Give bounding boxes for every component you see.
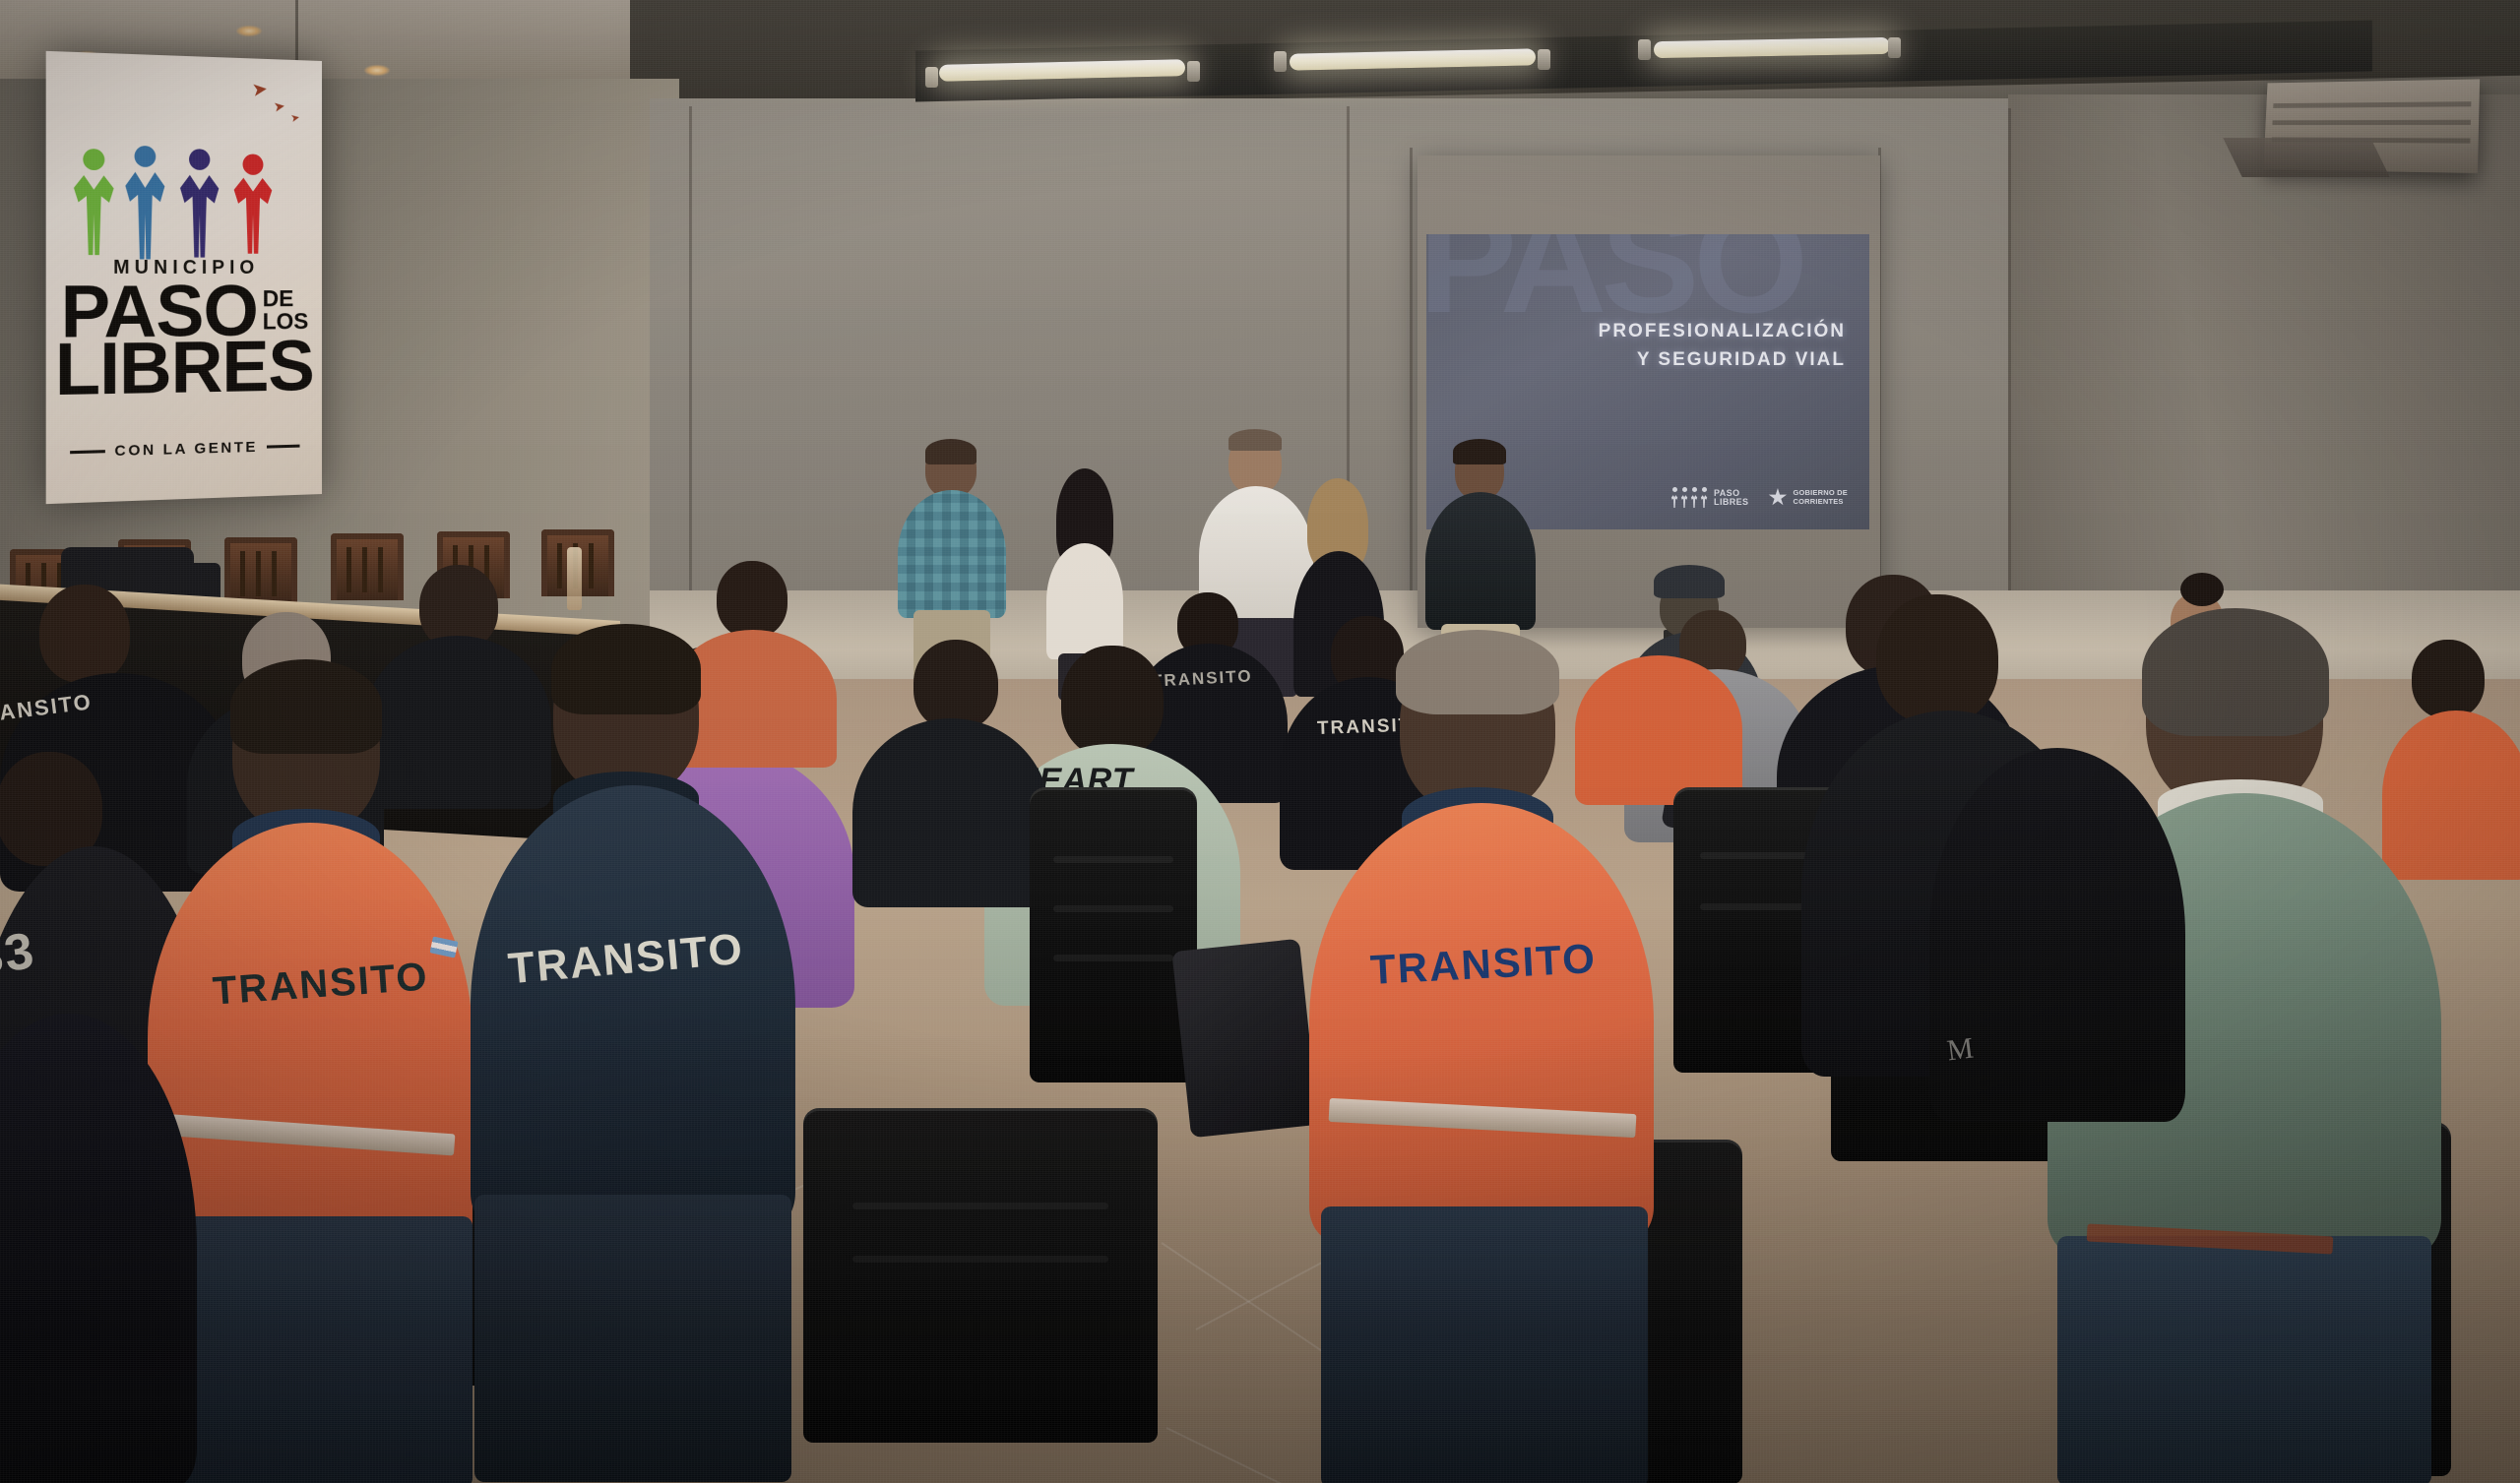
chair-slot <box>1053 856 1173 863</box>
banner-tagline: CON LA GENTE <box>46 437 322 462</box>
pants <box>157 1216 472 1483</box>
tagline-rule-left <box>70 450 105 454</box>
hair <box>230 659 382 754</box>
slide-logo-1-text: PASO LIBRES <box>1714 489 1748 506</box>
hair <box>1228 429 1282 451</box>
chair-backrest[interactable] <box>803 1108 1158 1443</box>
plastic-stacking-chair[interactable] <box>1030 787 1197 1082</box>
mini-people-icon <box>1670 487 1708 508</box>
attendee-black-right-foreground: M <box>1929 709 2185 1122</box>
wall-seam <box>2008 108 2011 659</box>
pants <box>2057 1236 2431 1483</box>
torso <box>471 785 795 1228</box>
wall-seam <box>1410 148 1413 640</box>
chair-slot <box>1053 905 1173 912</box>
torso <box>852 718 1049 907</box>
attendee-navy-transito-center: TRANSITO <box>471 714 795 1482</box>
downlight-icon <box>236 26 262 36</box>
hair <box>1453 439 1506 464</box>
chair-backrest[interactable] <box>1030 787 1197 1082</box>
head <box>913 640 998 730</box>
plastic-stacking-chair[interactable] <box>803 1108 1158 1443</box>
hair-bun-icon <box>2180 573 2224 606</box>
torso <box>898 490 1006 618</box>
chair-slot <box>852 1256 1107 1263</box>
slide-logo-paso-de-los-libres: PASO LIBRES <box>1670 487 1748 508</box>
tagline-rule-right <box>267 445 300 449</box>
slide-logo-1-word-2: LIBRES <box>1714 497 1748 507</box>
backpack[interactable] <box>1171 939 1318 1139</box>
head <box>39 585 130 683</box>
slide-logo-2-text: GOBIERNO DE CORRIENTES <box>1793 489 1848 506</box>
downlight-icon <box>364 65 390 76</box>
torso <box>0 1014 197 1483</box>
head <box>1061 646 1164 758</box>
slide-title-line-2: Y SEGURIDAD VIAL <box>1599 345 1846 374</box>
torso <box>1309 803 1654 1242</box>
light-tube-cap <box>1888 37 1901 58</box>
banner-people-logo-icon <box>65 140 304 260</box>
slide-logo-2-word-2: CORRIENTES <box>1793 497 1843 506</box>
star-icon <box>1768 488 1787 507</box>
hair <box>925 439 976 464</box>
pants <box>1321 1206 1648 1483</box>
cap-icon <box>1654 565 1725 598</box>
banner-libres-word: LIBRES <box>46 337 322 403</box>
slide-logo-corrientes: GOBIERNO DE CORRIENTES <box>1768 488 1848 507</box>
light-tube-cap <box>925 67 938 88</box>
pants <box>474 1195 791 1482</box>
banner-municipality-name: PASO DE LOS LIBRES <box>46 281 322 402</box>
slide-watermark: PASO <box>1426 234 1802 322</box>
chair-slot <box>1053 955 1173 961</box>
light-tube-cap <box>1274 51 1287 72</box>
water-bottle <box>567 547 582 610</box>
hair <box>551 624 701 714</box>
slide-logo-row: PASO LIBRES GOBIERNO DE CORRIENTES <box>1670 487 1848 508</box>
slide-title: PROFESIONALIZACIÓN Y SEGURIDAD VIAL <box>1599 317 1846 375</box>
birds-icon: ➤ ➤ ➤ <box>197 77 305 128</box>
meeting-room-photo: ➤ ➤ ➤ MUNICIPIO PA <box>0 0 2520 1483</box>
chair-slot <box>852 1203 1107 1209</box>
light-tube-cap <box>1187 61 1200 82</box>
head <box>1876 594 1998 724</box>
banner-tagline-text: CON LA GENTE <box>114 439 257 460</box>
attendee-dark-second-row <box>852 679 1049 905</box>
light-tube-cap <box>1638 39 1651 60</box>
attendee-orange-transito-right: TRANSITO <box>1309 728 1654 1482</box>
torso <box>1046 543 1123 659</box>
torso <box>1425 492 1536 630</box>
chair-inventory-mark: M <box>1945 1032 1976 1069</box>
hair <box>1396 630 1559 714</box>
paso-de-los-libres-banner: ➤ ➤ ➤ MUNICIPIO PA <box>46 51 322 504</box>
light-tube-cap <box>1538 49 1550 70</box>
wall-seam <box>689 106 692 638</box>
slide-title-line-1: PROFESIONALIZACIÓN <box>1599 317 1846 345</box>
head <box>717 561 787 638</box>
air-conditioner-vent <box>2223 138 2390 177</box>
attendee-foreground-left-edge <box>0 1014 197 1483</box>
